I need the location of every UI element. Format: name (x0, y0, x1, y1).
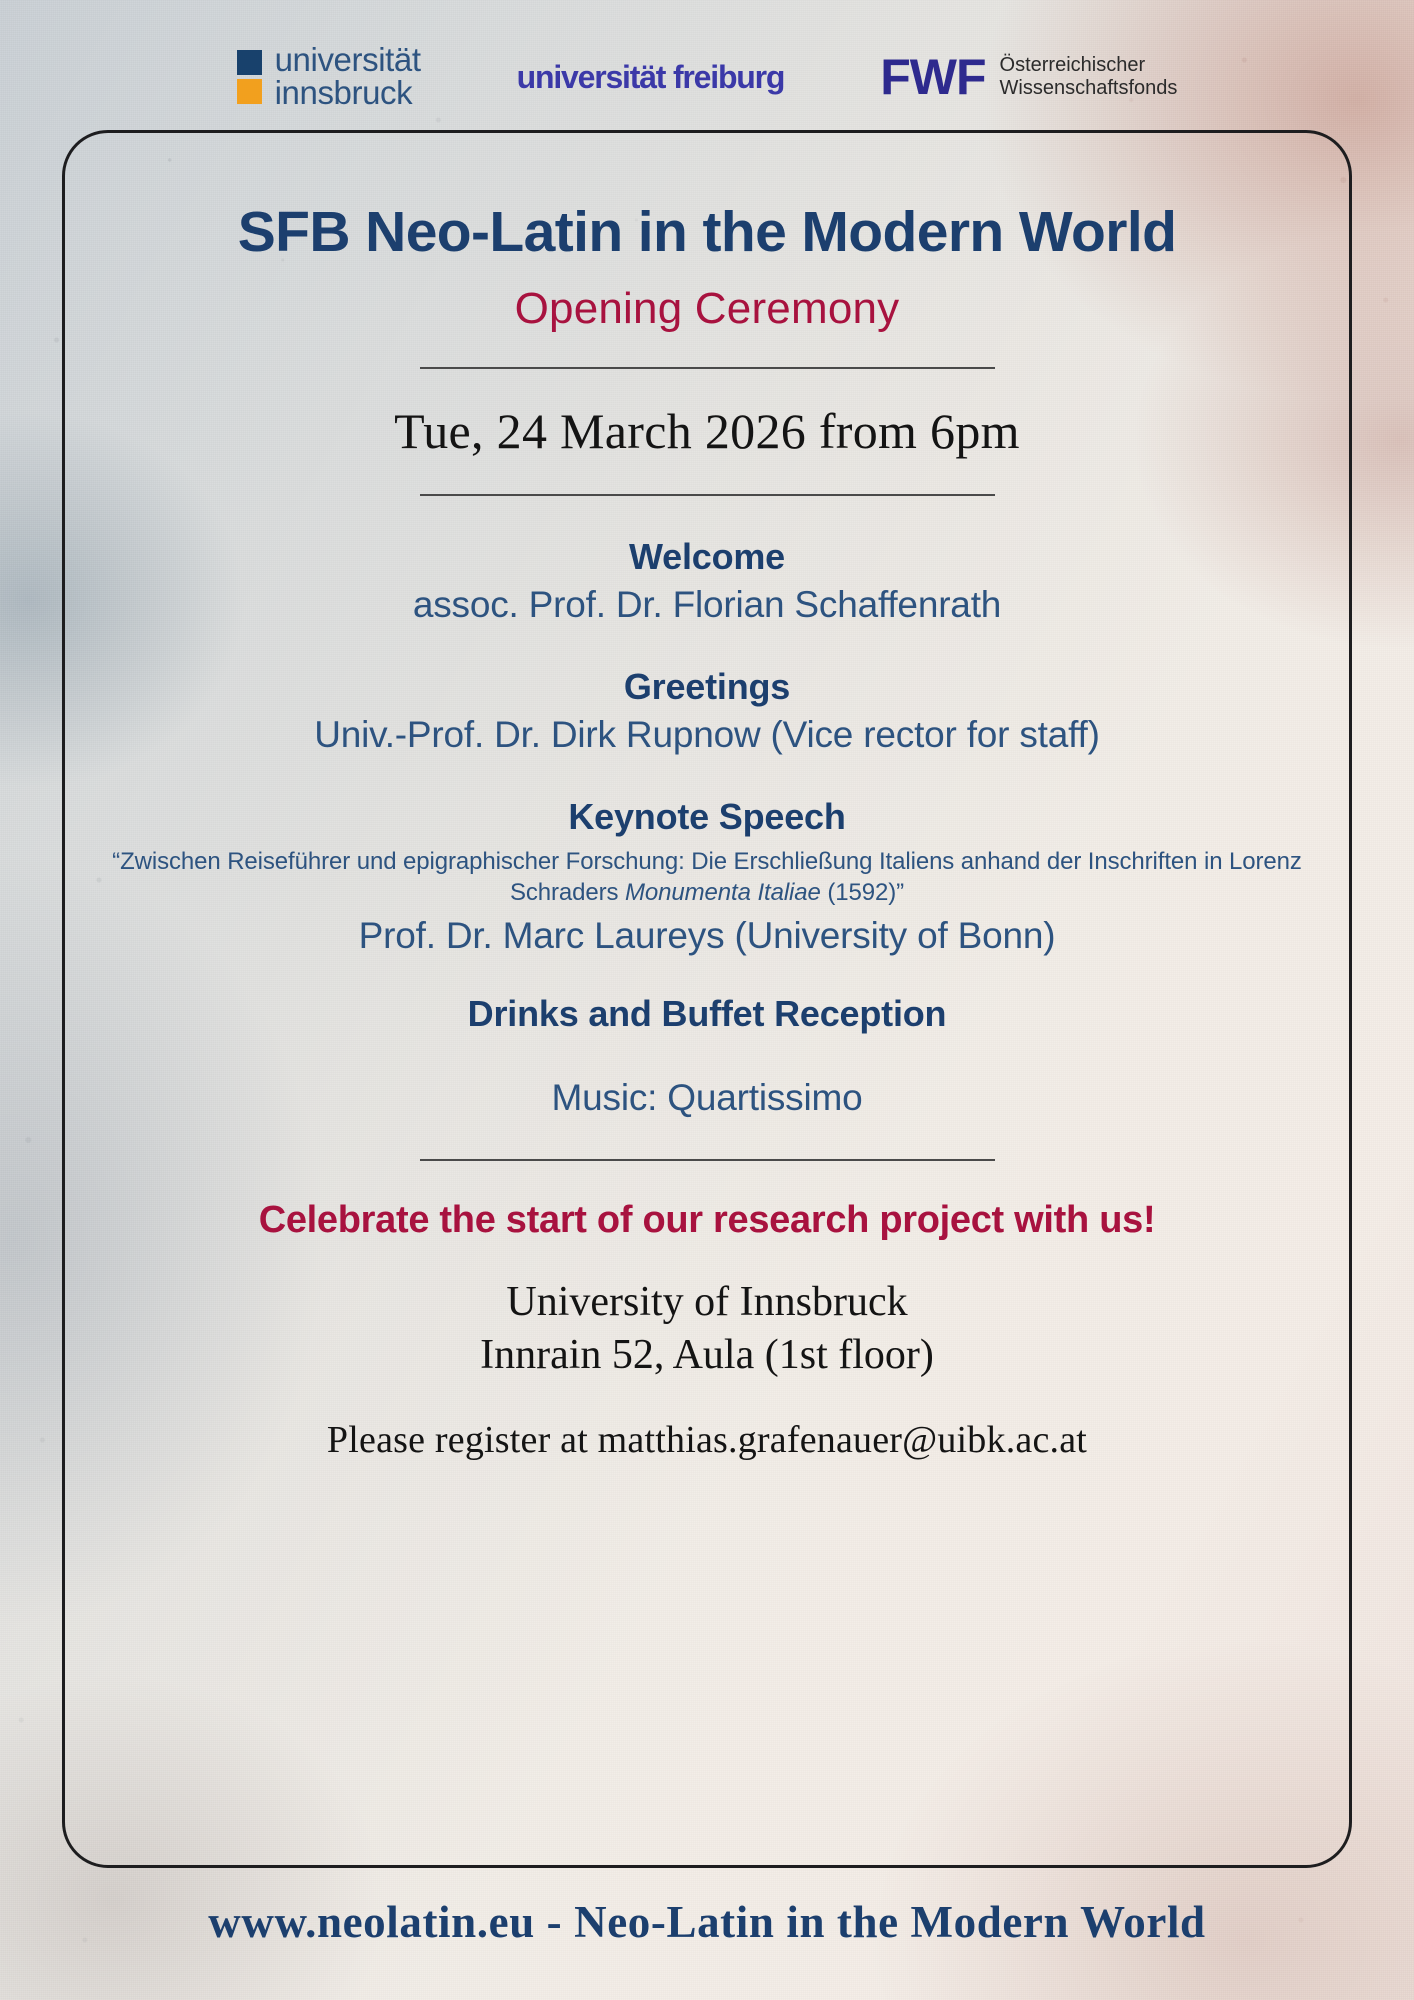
program-item-greetings: Greetings Univ.-Prof. Dr. Dirk Rupnow (V… (96, 666, 1318, 756)
university-innsbruck-logo: universität innsbruck (237, 44, 421, 109)
innsbruck-wordmark: universität innsbruck (275, 44, 421, 109)
fwf-subtitle: Österreichischer Wissenschaftsfonds (1000, 54, 1178, 100)
celebrate-call-to-action: Celebrate the start of our research proj… (96, 1199, 1318, 1242)
registration-line: Please register at matthias.grafenauer@u… (96, 1418, 1318, 1462)
event-date: Tue, 24 March 2026 from 6pm (96, 402, 1318, 460)
innsbruck-squares-icon (237, 50, 262, 104)
poster-title: SFB Neo-Latin in the Modern World (96, 202, 1318, 264)
program-item-reception: Drinks and Buffet Reception (96, 993, 1318, 1035)
greetings-heading: Greetings (96, 666, 1318, 708)
poster-subtitle: Opening Ceremony (96, 284, 1318, 334)
keynote-title-quote: “Zwischen Reiseführer und epigraphischer… (96, 846, 1318, 909)
footer-website: www.neolatin.eu - Neo-Latin in the Moder… (0, 1896, 1414, 1948)
fwf-subtitle-line2: Wissenschaftsfonds (1000, 77, 1178, 100)
innsbruck-blue-square-icon (237, 50, 262, 75)
reception-heading: Drinks and Buffet Reception (96, 993, 1318, 1035)
university-freiburg-logo: universität freiburg (517, 59, 785, 96)
divider-bottom (420, 1159, 995, 1161)
program-item-welcome: Welcome assoc. Prof. Dr. Florian Schaffe… (96, 536, 1318, 626)
poster-canvas: universität innsbruck universität freibu… (0, 0, 1414, 2000)
innsbruck-wordmark-line1: universität (275, 44, 421, 77)
divider-below-date (420, 494, 995, 496)
welcome-speaker: assoc. Prof. Dr. Florian Schaffenrath (96, 584, 1318, 626)
fwf-logo: FWF Österreichischer Wissenschaftsfonds (880, 52, 1177, 102)
welcome-heading: Welcome (96, 536, 1318, 578)
keynote-speaker: Prof. Dr. Marc Laureys (University of Bo… (96, 915, 1318, 957)
fwf-wordmark: FWF (880, 52, 985, 102)
venue-line1: University of Innsbruck (96, 1276, 1318, 1329)
divider-top (420, 367, 995, 369)
keynote-heading: Keynote Speech (96, 796, 1318, 838)
greetings-speaker: Univ.-Prof. Dr. Dirk Rupnow (Vice rector… (96, 714, 1318, 756)
keynote-quote-italic: Monumenta Italiae (625, 879, 821, 906)
program-item-keynote: Keynote Speech “Zwischen Reiseführer und… (96, 796, 1318, 957)
music-line: Music: Quartissimo (96, 1077, 1318, 1119)
innsbruck-orange-square-icon (237, 79, 262, 104)
poster-content: SFB Neo-Latin in the Modern World Openin… (62, 130, 1352, 1868)
innsbruck-wordmark-line2: innsbruck (275, 77, 421, 110)
logo-row: universität innsbruck universität freibu… (0, 44, 1414, 110)
venue-address: University of Innsbruck Innrain 52, Aula… (96, 1276, 1318, 1382)
venue-line2: Innrain 52, Aula (1st floor) (96, 1329, 1318, 1382)
fwf-subtitle-line1: Österreichischer (1000, 54, 1178, 77)
keynote-quote-part2: (1592)” (821, 879, 904, 906)
